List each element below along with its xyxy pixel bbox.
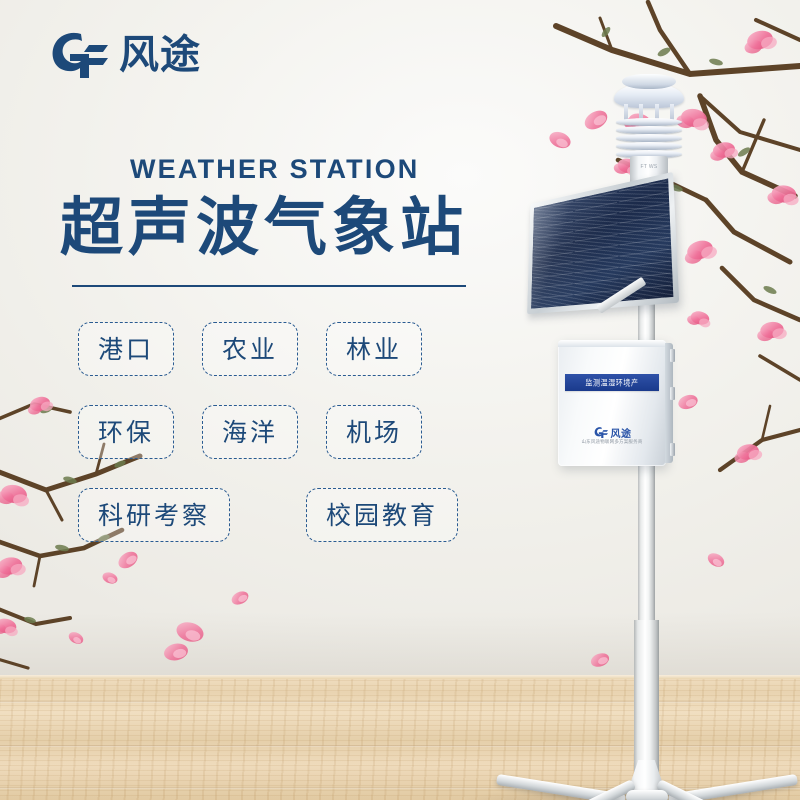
sensor-neck-label: FT WS xyxy=(630,164,668,172)
tag-campus-education[interactable]: 校园教育 xyxy=(306,488,458,542)
control-box-banner: 监测温湿环境产 xyxy=(565,374,659,391)
solar-panel xyxy=(527,172,679,314)
control-box-subtitle: 山东风途物联网多方案服务商 xyxy=(558,439,666,445)
hero-eyebrow: WEATHER STATION xyxy=(130,154,419,185)
radiation-shield-plates xyxy=(616,118,682,158)
tag-port[interactable]: 港口 xyxy=(78,322,174,376)
tag-environment[interactable]: 环保 xyxy=(78,405,174,459)
tag-agriculture[interactable]: 农业 xyxy=(202,322,298,376)
base-hub xyxy=(626,790,668,800)
application-tag-group: 港口 农业 林业 环保 海洋 机场 科研考察 校园教育 xyxy=(78,322,498,571)
tag-forestry[interactable]: 林业 xyxy=(326,322,422,376)
brand-logo[interactable]: 风途 xyxy=(48,28,201,82)
fengtu-cloud-g-logo-icon xyxy=(48,28,110,82)
tag-scientific-research[interactable]: 科研考察 xyxy=(78,488,230,542)
product-banner: 风途 WEATHER STATION 超声波气象站 港口 农业 林业 环保 海洋… xyxy=(0,0,800,800)
tag-row-3: 科研考察 校园教育 xyxy=(78,488,498,542)
title-divider xyxy=(72,285,466,287)
control-box: 监测温湿环境产 风途 山东风途物联网多方案服务商 xyxy=(558,340,666,466)
control-box-hinge-side xyxy=(665,343,673,463)
tag-ocean[interactable]: 海洋 xyxy=(202,405,298,459)
brand-name: 风途 xyxy=(119,35,201,75)
tag-row-1: 港口 农业 林业 xyxy=(78,322,498,376)
tag-airport[interactable]: 机场 xyxy=(326,405,422,459)
page-title: 超声波气象站 xyxy=(60,194,468,261)
control-box-banner-text: 监测温湿环境产 xyxy=(585,377,638,389)
fengtu-cloud-g-logo-icon-small xyxy=(593,426,609,439)
tag-row-2: 环保 海洋 机场 xyxy=(78,405,498,459)
ultrasonic-sensor-head: FT WS xyxy=(608,74,690,194)
weather-station-product: FT WS 监测温湿环境产 xyxy=(440,60,800,800)
